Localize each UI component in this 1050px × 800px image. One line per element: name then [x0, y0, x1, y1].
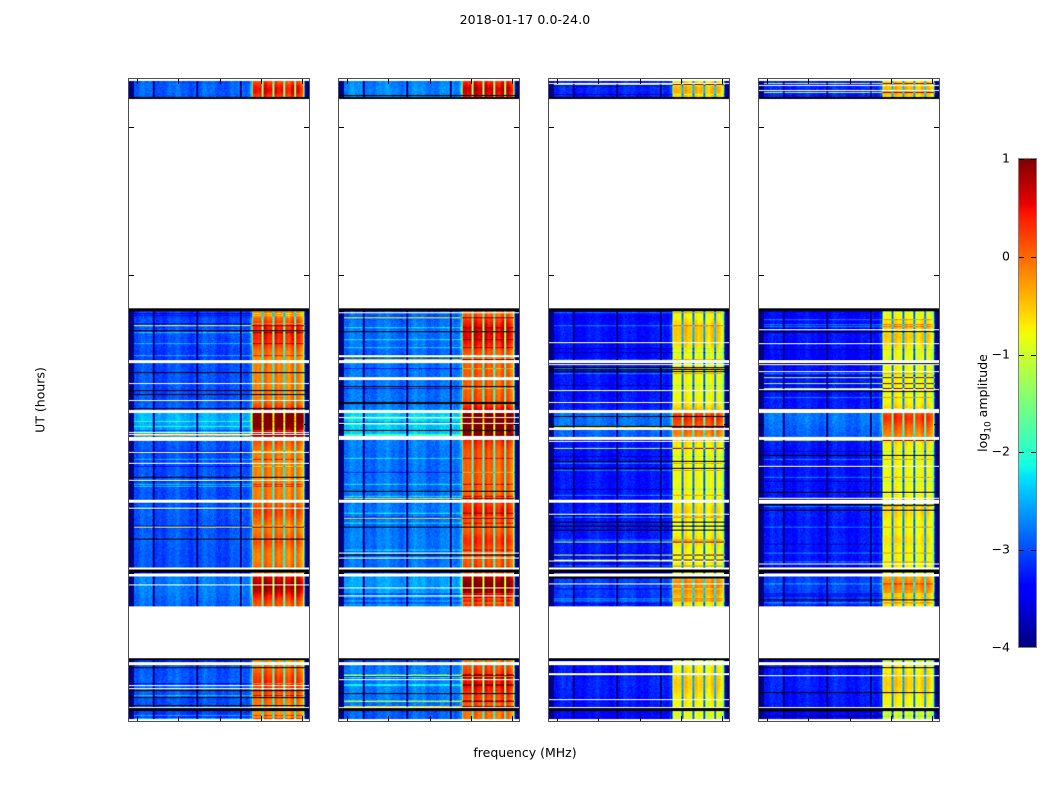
y-axis-tick [759, 275, 764, 276]
y-axis-tick [934, 424, 939, 425]
x-axis-tick [722, 716, 723, 721]
colorbar-label-sub: 10 [983, 421, 993, 432]
x-axis-tick [302, 716, 303, 721]
y-axis-tick [934, 275, 939, 276]
x-axis-tick [471, 716, 472, 721]
x-axis-tick [850, 79, 851, 84]
x-axis-label: frequency (MHz) [0, 745, 1050, 760]
colorbar-tick-label: 1 [1002, 151, 1010, 166]
colorbar-label-main: log [975, 433, 990, 452]
x-axis-tick [512, 79, 513, 84]
y-axis-tick [724, 424, 729, 425]
x-axis-tick [681, 716, 682, 721]
y-axis-tick [549, 573, 554, 574]
waterfall-image-yy [339, 79, 519, 721]
x-axis-tick [722, 79, 723, 84]
x-axis-tick [220, 716, 221, 721]
y-axis-tick [549, 275, 554, 276]
x-axis-tick [850, 716, 851, 721]
colorbar-tick [1019, 452, 1024, 453]
colorbar-tick [1031, 257, 1036, 258]
y-axis-tick [129, 573, 134, 574]
x-axis-tick [640, 79, 641, 84]
x-axis-tick [891, 79, 892, 84]
panel-xx[interactable]: XX, V0*V5=EA23*EA08 05101520320335350365… [128, 78, 310, 722]
y-axis-tick [129, 275, 134, 276]
x-axis-tick [808, 716, 809, 721]
y-axis-tick [759, 127, 764, 128]
y-axis-tick [304, 127, 309, 128]
colorbar-tick-label: −4 [992, 640, 1010, 655]
x-axis-tick [347, 79, 348, 84]
x-axis-tick [681, 79, 682, 84]
colorbar-label: log10 amplitude [975, 354, 994, 452]
x-axis-tick [767, 79, 768, 84]
x-axis-tick [137, 79, 138, 84]
waterfall-image-xx [129, 79, 309, 721]
panel-yy[interactable]: YY, V0*V5=EA23*EA08 05101520320335350365… [338, 78, 520, 722]
y-axis-tick [514, 127, 519, 128]
y-axis-tick [759, 424, 764, 425]
y-axis-tick [759, 573, 764, 574]
x-axis-tick [932, 716, 933, 721]
y-axis-tick [724, 573, 729, 574]
x-axis-tick [471, 79, 472, 84]
waterfall-figure: 2018-01-17 0.0-24.0 UT (hours) frequency… [0, 0, 1050, 800]
x-axis-tick [640, 716, 641, 721]
colorbar-tick [1031, 550, 1036, 551]
y-axis-label: UT (hours) [33, 367, 48, 433]
y-axis-tick [514, 573, 519, 574]
x-axis-tick [178, 79, 179, 84]
y-axis-tick [934, 127, 939, 128]
y-axis-tick [129, 424, 134, 425]
y-axis-tick [724, 127, 729, 128]
figure-suptitle: 2018-01-17 0.0-24.0 [0, 12, 1050, 27]
y-axis-tick [549, 127, 554, 128]
y-axis-tick [514, 275, 519, 276]
colorbar-tick-label: −3 [992, 542, 1010, 557]
colorbar-tick-label: −2 [992, 444, 1010, 459]
colorbar-tick [1019, 159, 1024, 160]
x-axis-tick [557, 79, 558, 84]
colorbar[interactable] [1018, 158, 1037, 648]
colorbar-tick-label: −1 [992, 346, 1010, 361]
colorbar-tick [1031, 355, 1036, 356]
y-axis-tick [934, 573, 939, 574]
x-axis-tick [430, 716, 431, 721]
panel-xy[interactable]: XY, V0*V5=EA23*EA08 05101520320335350365… [548, 78, 730, 722]
x-axis-tick [932, 79, 933, 84]
colorbar-gradient [1019, 159, 1036, 647]
x-axis-tick [178, 716, 179, 721]
y-axis-tick [339, 275, 344, 276]
colorbar-label-tail: amplitude [975, 354, 990, 421]
x-axis-tick [557, 716, 558, 721]
y-axis-tick [514, 424, 519, 425]
y-axis-tick [724, 275, 729, 276]
waterfall-image-yx [759, 79, 939, 721]
x-axis-tick [261, 716, 262, 721]
y-axis-tick [129, 127, 134, 128]
y-axis-tick [304, 275, 309, 276]
y-axis-tick [339, 573, 344, 574]
colorbar-tick-label: 0 [1002, 248, 1010, 263]
colorbar-tick [1019, 550, 1024, 551]
y-axis-tick [339, 127, 344, 128]
colorbar-tick [1031, 452, 1036, 453]
x-axis-tick [808, 79, 809, 84]
y-axis-tick [339, 424, 344, 425]
y-axis-tick [304, 573, 309, 574]
x-axis-tick [598, 716, 599, 721]
x-axis-tick [388, 716, 389, 721]
x-axis-tick [388, 79, 389, 84]
x-axis-tick [220, 79, 221, 84]
x-axis-tick [137, 716, 138, 721]
x-axis-tick [891, 716, 892, 721]
x-axis-tick [261, 79, 262, 84]
x-axis-tick [302, 79, 303, 84]
x-axis-tick [598, 79, 599, 84]
panel-yx[interactable]: YX, V0*V5=EA23*EA08 05101520320335350365… [758, 78, 940, 722]
x-axis-tick [512, 716, 513, 721]
colorbar-tick [1019, 257, 1024, 258]
x-axis-tick [347, 716, 348, 721]
waterfall-image-xy [549, 79, 729, 721]
colorbar-tick [1019, 355, 1024, 356]
y-axis-tick [549, 424, 554, 425]
colorbar-tick [1031, 159, 1036, 160]
x-axis-tick [767, 716, 768, 721]
y-axis-tick [304, 424, 309, 425]
x-axis-tick [430, 79, 431, 84]
